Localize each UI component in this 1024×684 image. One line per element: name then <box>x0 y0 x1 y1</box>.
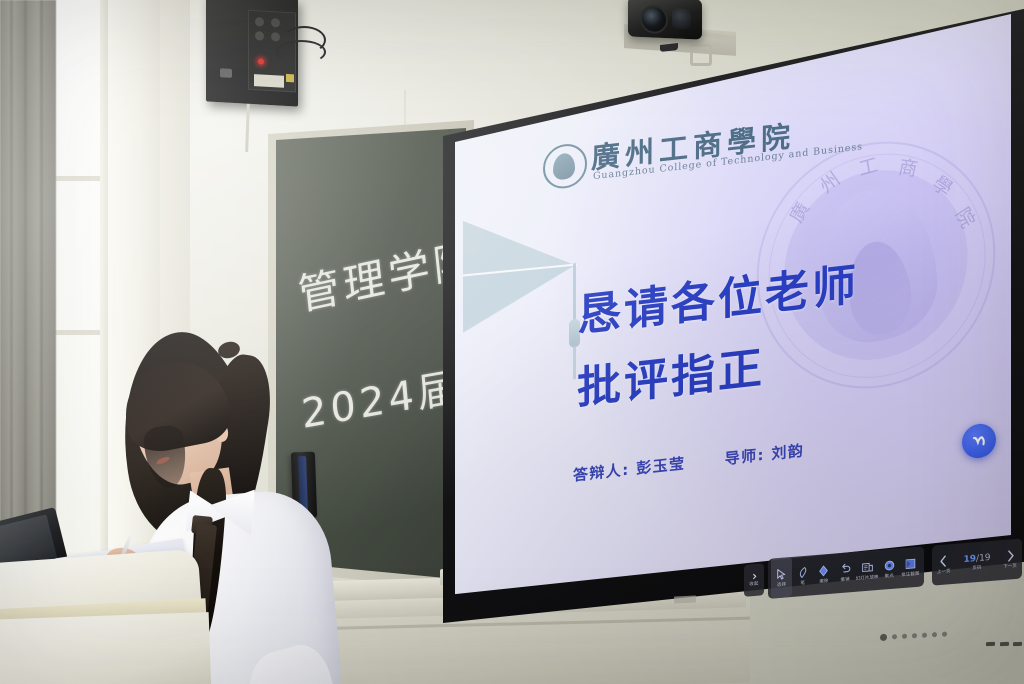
slide-byline: 答辩人: 彭玉莹 导师: 刘韵 <box>573 439 804 485</box>
slide-title-line2: 批评指正 <box>577 331 765 416</box>
tool-eraser-label: 擦除 <box>819 578 828 585</box>
panel-button[interactable] <box>922 632 927 637</box>
tool-screenshot-label: 批注截图 <box>901 571 919 578</box>
presenter-name: 彭玉莹 <box>636 454 685 477</box>
speaker-cable <box>276 40 326 64</box>
panel-port <box>1013 642 1022 646</box>
graduation-cap-icon <box>463 207 595 391</box>
panel-power-button[interactable] <box>880 633 887 640</box>
current-page: 19 <box>963 554 976 565</box>
tool-cursor[interactable]: 选择 <box>771 557 792 599</box>
speaker-label <box>254 74 284 88</box>
slideshow-icon <box>861 560 874 574</box>
prev-page-label: 上一页 <box>937 568 951 575</box>
speaker-logo <box>220 68 232 78</box>
advisor-label: 导师: <box>725 446 765 468</box>
tool-eraser[interactable]: 擦除 <box>813 553 834 595</box>
total-pages: 19 <box>979 552 990 563</box>
panel-button[interactable] <box>892 634 897 639</box>
speaker-power-led <box>258 58 264 64</box>
school-logo: 廣州工商學院 Guangzhou College of Technology a… <box>543 117 773 204</box>
panel-button[interactable] <box>942 631 947 636</box>
tool-undo[interactable]: 撤销 <box>835 552 856 594</box>
spotlight-icon <box>883 559 896 573</box>
panel-button[interactable] <box>932 632 937 637</box>
prev-page-button[interactable]: 上一页 <box>937 554 951 575</box>
toolbar-collapse-label: 收起 <box>749 581 758 588</box>
chevron-left-icon <box>938 554 949 568</box>
classroom-scene: 管理学院 2024届 廣 州 工 商 學 院 <box>0 0 1024 684</box>
school-emblem-icon <box>543 142 587 191</box>
camera-lens-icon <box>640 5 668 34</box>
advisor-name: 刘韵 <box>772 441 805 463</box>
tool-screenshot[interactable]: 批注截图 <box>900 547 921 589</box>
tool-cursor-label: 选择 <box>777 581 786 588</box>
camera-mount-clamp <box>690 44 712 66</box>
speaker-connector <box>286 74 294 82</box>
cursor-icon <box>775 567 788 581</box>
panel-port <box>1000 642 1009 646</box>
eraser-icon <box>817 564 830 578</box>
pen-icon <box>796 566 809 580</box>
screenshot-icon <box>904 557 917 571</box>
tool-spotlight-label: 聚光 <box>885 573 894 580</box>
podium-body <box>0 612 211 684</box>
wall-camera <box>628 0 702 40</box>
panel-button[interactable] <box>902 633 907 638</box>
chevron-right-icon <box>1005 549 1016 563</box>
tool-pen-label: 笔 <box>800 580 805 586</box>
tool-spotlight[interactable]: 聚光 <box>879 548 900 590</box>
tool-undo-label: 撤销 <box>841 576 850 583</box>
page-indicator[interactable]: 19/19 页码 <box>963 552 990 571</box>
panel-port <box>986 642 995 646</box>
tool-pen[interactable]: 笔 <box>792 555 813 597</box>
panel-brand-logo <box>674 595 696 603</box>
tool-slideshow[interactable]: 幻灯片放映 <box>856 550 879 592</box>
assistant-icon <box>970 431 989 452</box>
presenter-label: 答辩人: <box>573 460 630 484</box>
toolbar-pagination[interactable]: 上一页 19/19 页码 下一页 <box>932 538 1022 585</box>
next-page-label: 下一页 <box>1003 563 1017 570</box>
camera-sensor-icon <box>672 8 691 29</box>
chevron-right-icon <box>751 573 758 581</box>
panel-button[interactable] <box>912 633 917 638</box>
next-page-button[interactable]: 下一页 <box>1003 549 1017 570</box>
page-indicator-label: 页码 <box>972 564 981 571</box>
tool-slideshow-label: 幻灯片放映 <box>856 574 879 582</box>
undo-icon <box>839 562 852 576</box>
window-mullion <box>52 176 106 181</box>
toolbar-collapse-handle[interactable]: 收起 <box>744 563 764 597</box>
